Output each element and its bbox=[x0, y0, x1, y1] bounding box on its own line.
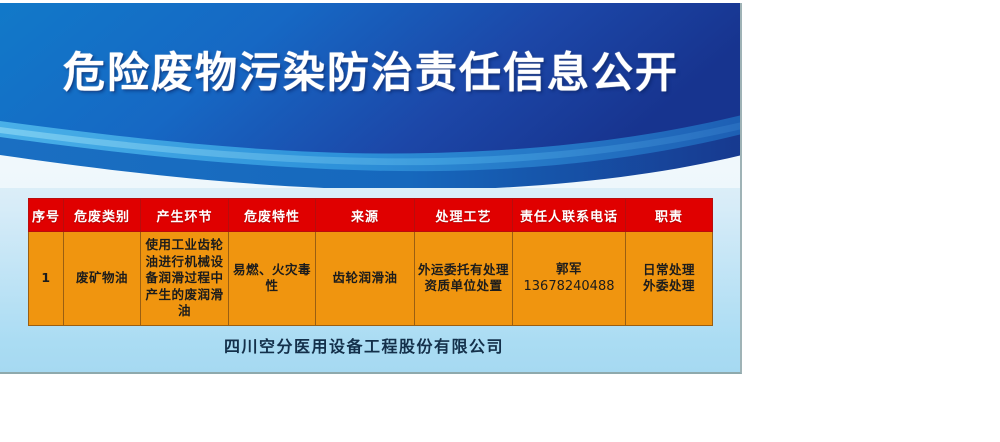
column-header-index: 序号 bbox=[29, 199, 64, 232]
cell-index: 1 bbox=[29, 232, 64, 326]
cell-duty: 日常处理 外委处理 bbox=[626, 232, 713, 326]
hazardous-waste-table: 序号 危废类别 产生环节 危废特性 来源 处理工艺 责任人联系电话 职责 1 废… bbox=[28, 198, 713, 326]
column-header-process: 处理工艺 bbox=[415, 199, 513, 232]
contact-phone-number: 13678240488 bbox=[516, 278, 622, 295]
cell-category: 废矿物油 bbox=[64, 232, 141, 326]
poster-board: 危险废物污染防治责任信息公开 序号 危废类别 产生环节 危废特性 来源 处理工艺… bbox=[0, 3, 742, 374]
column-header-duty: 职责 bbox=[626, 199, 713, 232]
column-header-stage: 产生环节 bbox=[141, 199, 229, 232]
cell-process: 外运委托有处理资质单位处置 bbox=[415, 232, 513, 326]
cell-source: 齿轮润滑油 bbox=[316, 232, 415, 326]
header-banner: 危险废物污染防治责任信息公开 bbox=[0, 3, 742, 188]
column-header-category: 危废类别 bbox=[64, 199, 141, 232]
table-row: 1 废矿物油 使用工业齿轮油进行机械设备润滑过程中产生的废润滑油 易燃、火灾毒性… bbox=[29, 232, 713, 326]
cell-stage: 使用工业齿轮油进行机械设备润滑过程中产生的废润滑油 bbox=[141, 232, 229, 326]
table-header-row: 序号 危废类别 产生环节 危废特性 来源 处理工艺 责任人联系电话 职责 bbox=[29, 199, 713, 232]
column-header-contact: 责任人联系电话 bbox=[513, 199, 626, 232]
page-title: 危险废物污染防治责任信息公开 bbox=[63, 49, 679, 98]
title-container: 危险废物污染防治责任信息公开 bbox=[0, 49, 742, 98]
cell-contact: 郭军 13678240488 bbox=[513, 232, 626, 326]
column-header-characteristics: 危废特性 bbox=[229, 199, 316, 232]
duty-line-1: 日常处理 bbox=[629, 262, 709, 279]
contact-person-name: 郭军 bbox=[516, 261, 622, 278]
duty-line-2: 外委处理 bbox=[629, 278, 709, 295]
column-header-source: 来源 bbox=[316, 199, 415, 232]
company-name: 四川空分医用设备工程股份有限公司 bbox=[0, 333, 742, 357]
cell-characteristics: 易燃、火灾毒性 bbox=[229, 232, 316, 326]
